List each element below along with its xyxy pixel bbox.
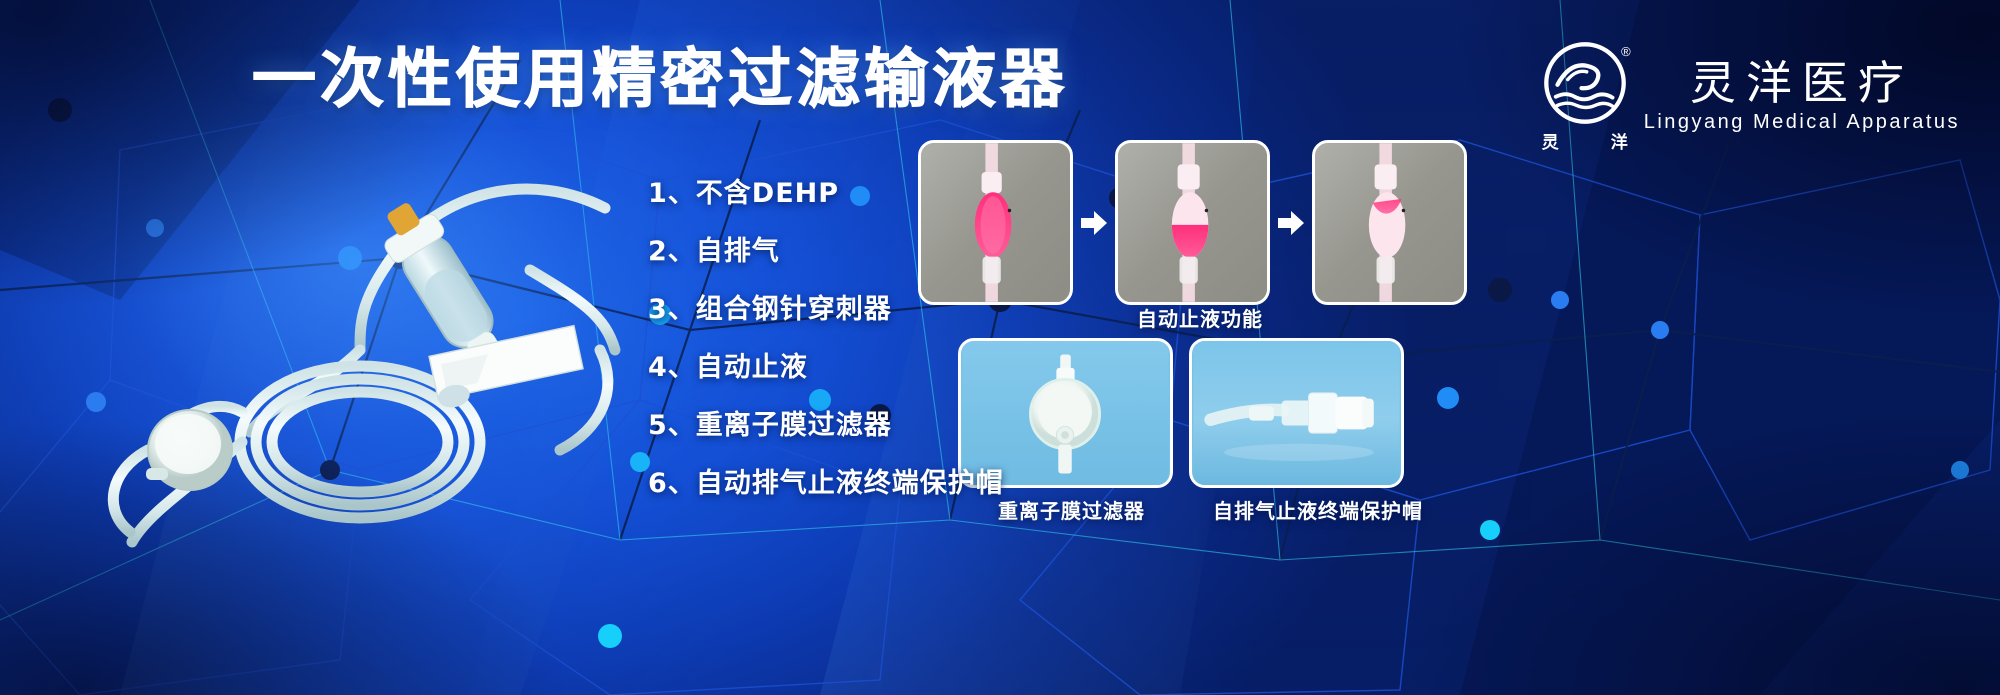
logo-mark-icon: ® <box>1542 40 1628 126</box>
caption-heavy-ion-filter: 重离子膜过滤器 <box>998 495 1145 524</box>
brand-name-en: Lingyang Medical Apparatus <box>1644 111 1960 134</box>
feature-item-6: 6、自动排气止液终端保护帽 <box>648 468 1004 526</box>
bottom-photo-row <box>958 338 1404 488</box>
arrow-right-icon-2 <box>1270 211 1312 235</box>
logo-mark-label: 灵 洋 <box>1542 128 1628 153</box>
feature-item-4: 4、自动止液 <box>648 352 1004 410</box>
brand-name-cn: 灵洋医疗 <box>1690 59 1914 107</box>
caption-terminal-protective-cap: 自排气止液终端保护帽 <box>1213 495 1423 524</box>
photo-auto-stop-stage-2 <box>1115 140 1270 305</box>
feature-item-1: 1、不含DEHP <box>648 178 1004 236</box>
photo-terminal-protective-cap <box>1189 338 1404 488</box>
photo-auto-stop-stage-3 <box>1312 140 1467 305</box>
registered-trademark-icon: ® <box>1621 44 1631 59</box>
brand-text: 灵洋医疗 Lingyang Medical Apparatus <box>1644 59 1960 133</box>
feature-list: 1、不含DEHP 2、自排气 3、组合钢针穿刺器 4、自动止液 5、重离子膜过滤… <box>648 178 1004 526</box>
brand-logo: ® 灵 洋 灵洋医疗 Lingyang Medical Apparatus <box>1542 40 1960 153</box>
feature-item-3: 3、组合钢针穿刺器 <box>648 294 1004 352</box>
feature-item-5: 5、重离子膜过滤器 <box>648 410 1004 468</box>
page-title: 一次性使用精密过滤输液器 <box>252 48 1068 112</box>
feature-item-2: 2、自排气 <box>648 236 1004 294</box>
logo-mark-char-right: 洋 <box>1611 128 1628 153</box>
caption-auto-stop-function: 自动止液功能 <box>1137 303 1263 332</box>
product-banner: 一次性使用精密过滤输液器 ® 灵 洋 灵洋医疗 Lingyang Medical <box>0 0 2000 695</box>
logo-mark-char-left: 灵 <box>1542 128 1559 153</box>
arrow-right-icon-1 <box>1073 211 1115 235</box>
filter-disc <box>146 410 232 490</box>
product-photo-infusion-set <box>60 150 680 550</box>
logo-mark-wrap: ® 灵 洋 <box>1542 40 1628 153</box>
